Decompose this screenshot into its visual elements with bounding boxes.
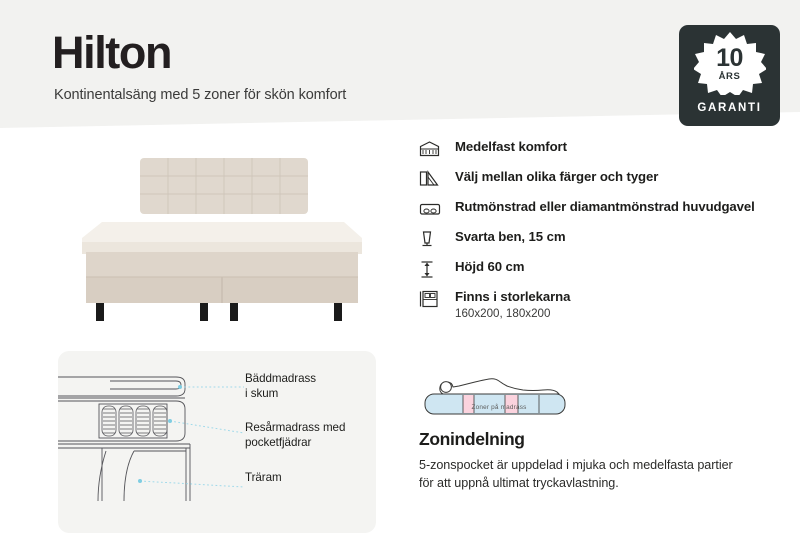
feature-label: Finns i storlekarna (455, 289, 570, 304)
badge-guarantee-label: GARANTI (697, 102, 761, 114)
feature-row-legs: Svarta ben, 15 cm (419, 228, 791, 258)
starburst-icon: 10 ÅRS (694, 31, 766, 95)
headboard-icon (419, 198, 449, 220)
feature-row-height: Höjd 60 cm (419, 258, 791, 288)
feature-row-fabrics: Välj mellan olika färger och tyger (419, 168, 791, 198)
height-arrow-icon (419, 258, 449, 280)
feature-label: Välj mellan olika färger och tyger (455, 169, 658, 184)
layer-label-spring-line2: pocketfjädrar (245, 435, 345, 450)
product-photo (72, 142, 372, 337)
feature-row-sizes: Finns i storlekarna 160x200, 180x200 (419, 288, 791, 321)
feature-label: Rutmönstrad eller diamantmönstrad huvudg… (455, 199, 755, 214)
fabric-swatches-icon (419, 168, 449, 190)
page-title: Hilton (52, 30, 171, 75)
bed-leg-icon (419, 228, 449, 250)
zone-section-heading: Zonindelning (419, 431, 525, 449)
zone-figure-caption: Zoner på madrass (419, 404, 579, 411)
mattress-firmness-icon (419, 138, 449, 160)
guarantee-badge: 10 ÅRS GARANTI (679, 25, 780, 126)
bed-cutaway-illustration (58, 351, 248, 516)
feature-text-sizes: Finns i storlekarna 160x200, 180x200 (449, 288, 570, 321)
layer-label-wooden-frame: Träram (245, 470, 282, 485)
feature-row-comfort: Medelfast komfort (419, 138, 791, 168)
feature-text-fabrics: Välj mellan olika färger och tyger (449, 168, 658, 184)
feature-label: Medelfast komfort (455, 139, 567, 154)
product-info-sheet: Hilton Kontinentalsäng med 5 zoner för s… (0, 0, 800, 533)
feature-sizes-values: 160x200, 180x200 (455, 306, 570, 321)
layer-label-spring-mattress: Resårmadrass med pocketfjädrar (245, 420, 345, 451)
layer-label-topper: Bäddmadrass i skum (245, 371, 316, 402)
zone-illustration (419, 368, 579, 420)
feature-text-comfort: Medelfast komfort (449, 138, 567, 154)
zone-section-body: 5-zonspocket är uppdelad i mjuka och med… (419, 457, 749, 493)
feature-text-headboard: Rutmönstrad eller diamantmönstrad huvudg… (449, 198, 755, 214)
feature-label: Svarta ben, 15 cm (455, 229, 565, 244)
bed-size-icon (419, 288, 449, 310)
feature-row-headboard: Rutmönstrad eller diamantmönstrad huvudg… (419, 198, 791, 228)
feature-list: Medelfast komfort Välj mellan olika färg… (419, 138, 791, 321)
layer-label-topper-line2: i skum (245, 386, 316, 401)
layer-label-spring-line1: Resårmadrass med (245, 420, 345, 435)
layer-label-frame-line1: Träram (245, 470, 282, 485)
layer-label-topper-line1: Bäddmadrass (245, 371, 316, 386)
feature-text-legs: Svarta ben, 15 cm (449, 228, 565, 244)
feature-label: Höjd 60 cm (455, 259, 524, 274)
page-subtitle: Kontinentalsäng med 5 zoner för skön kom… (54, 88, 346, 103)
feature-text-height: Höjd 60 cm (449, 258, 524, 274)
